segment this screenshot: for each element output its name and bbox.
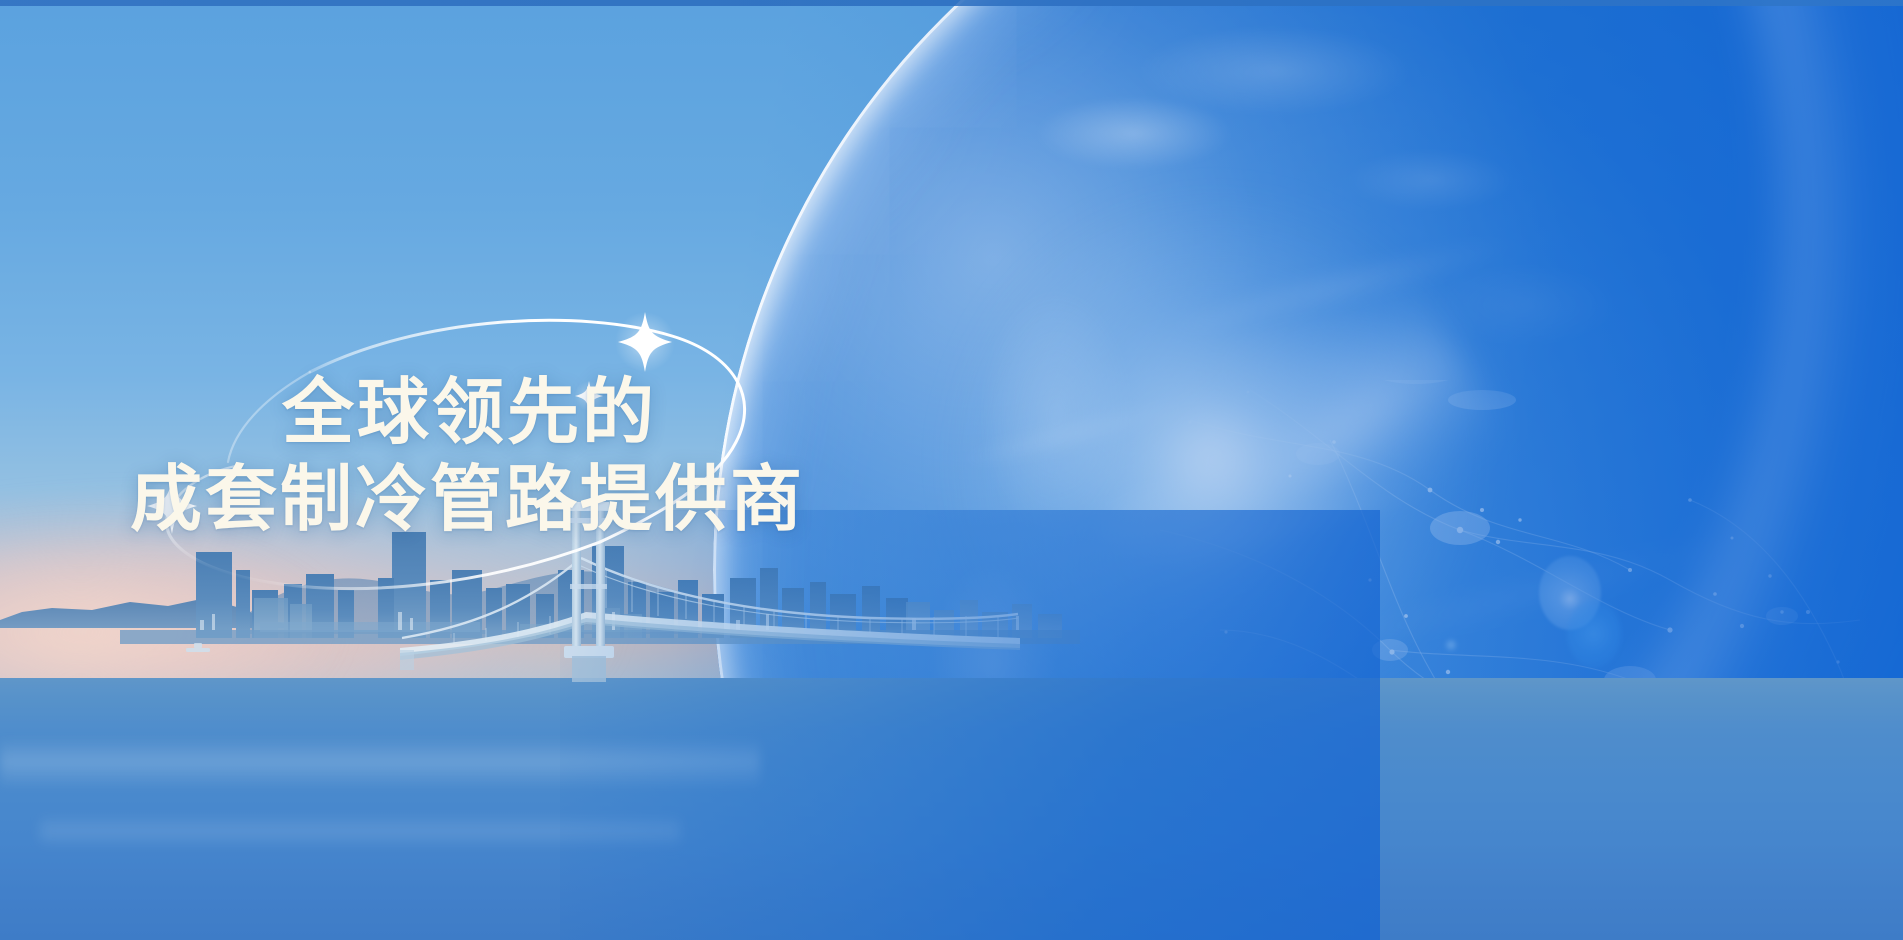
top-edge-line xyxy=(0,0,1903,6)
sea-water xyxy=(0,678,1903,940)
sea-highlight-band xyxy=(0,738,760,790)
headline-line-1: 全球领先的 xyxy=(282,375,890,452)
headline-line-2: 成套制冷管路提供商 xyxy=(130,462,890,539)
sea-highlight-band-lower xyxy=(40,814,680,848)
headline: 全球领先的 成套制冷管路提供商 xyxy=(130,375,890,539)
hero-banner: 全球领先的 成套制冷管路提供商 xyxy=(0,0,1903,940)
